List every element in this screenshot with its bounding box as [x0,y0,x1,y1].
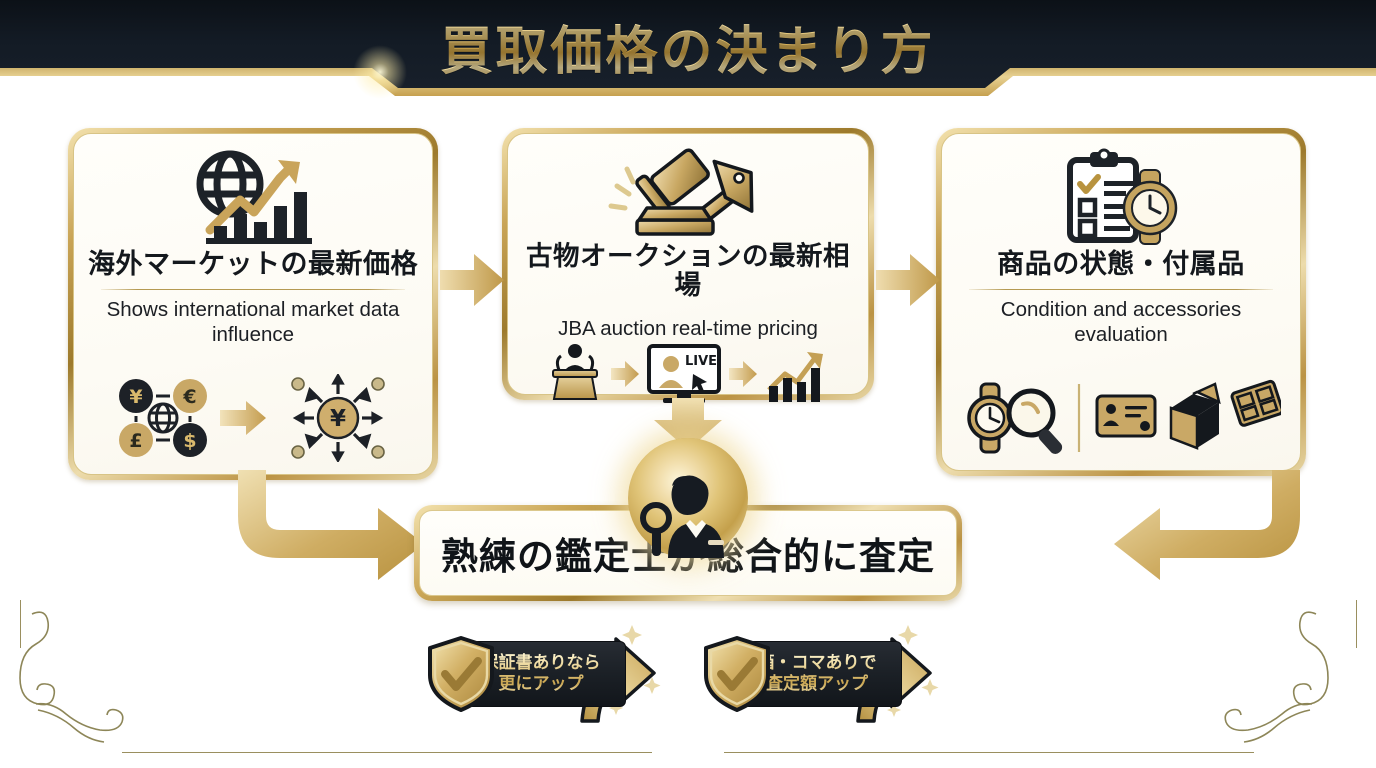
arrow-card1-to-card2-icon [440,252,506,313]
gavel-price-tag-icon [603,146,773,242]
auctioneer-live-chart-illustration: LIVE [522,342,854,406]
globe-growth-chart-icon [188,146,318,250]
header-banner: 買取価格の決まり方 [0,0,1376,92]
card-auction-market[interactable]: 古物オークションの最新相場 JBA auction real-time pric… [502,128,874,400]
decor-rule-right [1356,600,1357,648]
appraiser-magnifier-icon [628,438,748,558]
svg-text:¥: ¥ [129,386,142,408]
decor-rule-bottom-left [122,752,652,753]
badge-warranty-bonus[interactable]: 保証書ありなら 更にアップ [414,627,652,719]
card-subtitle: Shows international market data influenc… [88,298,418,347]
arrow-card1-to-banner-icon [232,470,432,585]
currency-exchange-illustration: ¥ € £ $ [88,374,418,464]
badge-label: 箱・コマありで 査定額アップ [758,653,877,695]
corner-flourish-icon [1210,606,1330,761]
clipboard-watch-icon [1056,146,1186,250]
card-divider [101,289,405,290]
svg-text:£: £ [129,430,142,452]
watch-magnifier-accessories-illustration [956,378,1286,460]
card-overseas-market[interactable]: 海外マーケットの最新価格 Shows international market … [68,128,438,480]
card-title: 古物オークションの最新相場 [522,242,854,300]
svg-text:€: € [182,386,196,408]
svg-text:$: $ [183,430,196,452]
card-item-condition[interactable]: 商品の状態・付属品 Condition and accessories eval… [936,128,1306,476]
svg-text:LIVE: LIVE [685,354,717,369]
corner-flourish-icon [18,606,138,761]
arrow-card3-to-banner-icon [1106,470,1306,585]
svg-text:¥: ¥ [330,406,346,432]
card-title: 商品の状態・付属品 [997,250,1245,280]
shield-check-icon [702,635,772,718]
badge-label: 保証書ありなら 更にアップ [482,653,601,695]
arrow-card2-to-card3-icon [876,252,942,313]
card-title: 海外マーケットの最新価格 [88,250,418,280]
card-subtitle: JBA auction real-time pricing [558,317,818,342]
decor-rule-bottom-right [724,752,1254,753]
page-title: 買取価格の決まり方 [0,9,1376,84]
badge-box-links-bonus[interactable]: 箱・コマありで 査定額アップ [690,627,928,719]
card-subtitle: Condition and accessories evaluation [956,298,1286,347]
card-divider [969,289,1273,290]
infographic-root: 買取価格の決まり方 [0,0,1376,768]
shield-check-icon [426,635,496,718]
